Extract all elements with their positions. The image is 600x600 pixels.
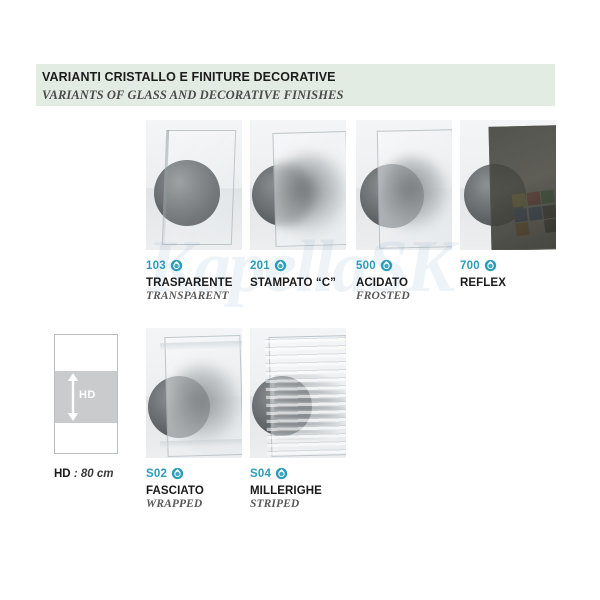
product-name-translation: STRIPED: [250, 498, 322, 510]
glass-drop-icon: [380, 259, 393, 272]
sample-image-reflex[interactable]: [460, 120, 556, 250]
caption-trasparente: 103 TRASPARENTE TRANSPARENT: [146, 258, 233, 302]
sample-image-acidato[interactable]: [356, 120, 452, 250]
hd-height-diagram: HD: [54, 334, 118, 454]
code-row: 700: [460, 258, 506, 273]
sample-scene: [460, 120, 556, 250]
code-row: S04: [250, 466, 322, 481]
hd-caption: HD : 80 cm: [54, 468, 113, 480]
rib-pattern: [265, 333, 346, 457]
sample-image-stampato-c[interactable]: [250, 120, 346, 250]
product-name: MILLERIGHE: [250, 485, 322, 497]
sample-scene: [146, 120, 242, 250]
sample-scene: [250, 328, 346, 458]
code-row: 201: [250, 258, 336, 273]
product-code: 500: [356, 260, 376, 272]
product-code: 103: [146, 260, 166, 272]
refracted-sphere: [378, 156, 448, 230]
refracted-sphere: [166, 364, 240, 444]
product-name: TRASPARENTE: [146, 277, 233, 289]
caption-fasciato: S02 FASCIATO WRAPPED: [146, 466, 204, 510]
glass-pane: [488, 125, 556, 250]
refracted-sphere: [272, 154, 346, 234]
glass-drop-icon: [274, 259, 287, 272]
product-name-translation: WRAPPED: [146, 498, 204, 510]
product-code: 201: [250, 260, 270, 272]
product-name: ACIDATO: [356, 277, 410, 289]
sample-scene: [356, 120, 452, 250]
caption-acidato: 500 ACIDATO FROSTED: [356, 258, 410, 302]
product-name: REFLEX: [460, 277, 506, 289]
hd-double-arrow-icon: [66, 373, 80, 421]
glass-drop-icon: [484, 259, 497, 272]
product-name: STAMPATO “C”: [250, 277, 336, 289]
hd-caption-value: : 80 cm: [71, 468, 114, 480]
page-title: VARIANTI CRISTALLO E FINITURE DECORATIVE: [42, 70, 336, 84]
glass-drop-icon: [170, 259, 183, 272]
glass-pane: [162, 130, 236, 245]
code-row: 103: [146, 258, 233, 273]
hd-caption-key: HD: [54, 468, 71, 480]
product-code: S04: [250, 468, 271, 480]
caption-reflex: 700 REFLEX: [460, 258, 506, 290]
sample-scene: [250, 120, 346, 250]
glass-drop-icon: [171, 467, 184, 480]
sample-scene: [146, 328, 242, 458]
product-code: 700: [460, 260, 480, 272]
glass-drop-icon: [275, 467, 288, 480]
product-code: S02: [146, 468, 167, 480]
sample-image-trasparente[interactable]: [146, 120, 242, 250]
hd-diagram-label: HD: [79, 389, 96, 401]
product-name: FASCIATO: [146, 485, 204, 497]
product-name-translation: FROSTED: [356, 290, 410, 302]
sample-image-millerighe[interactable]: [250, 328, 346, 458]
code-row: 500: [356, 258, 410, 273]
caption-millerighe: S04 MILLERIGHE STRIPED: [250, 466, 322, 510]
page-subtitle: VARIANTS OF GLASS AND DECORATIVE FINISHE…: [42, 88, 344, 103]
sample-image-fasciato[interactable]: [146, 328, 242, 458]
caption-stampato-c: 201 STAMPATO “C”: [250, 258, 336, 290]
code-row: S02: [146, 466, 204, 481]
product-name-translation: TRANSPARENT: [146, 290, 233, 302]
